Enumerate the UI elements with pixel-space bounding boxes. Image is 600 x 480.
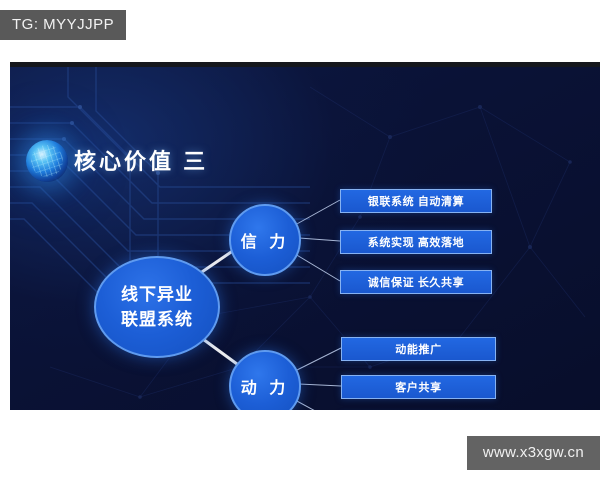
branch-node-trust[interactable]: 信 力 [229, 204, 301, 276]
connector-power-item-0 [295, 348, 341, 371]
connector-power-item-1 [299, 384, 341, 386]
connector-trust-item-0 [295, 200, 340, 225]
item-box-trust-0[interactable]: 银联系统 自动清算 [340, 189, 492, 213]
connector-trust-item-1 [299, 238, 340, 241]
connector-trust-item-2 [295, 254, 340, 281]
center-node[interactable]: 线下异业 联盟系统 [94, 256, 220, 358]
center-node-line2: 联盟系统 [121, 307, 193, 332]
slide-canvas: 核心价值 三 线下异业 联盟系统 信 力 动 力 银联系统 自动清算 系统实现 … [10, 62, 600, 410]
connector-lines [10, 62, 600, 410]
center-node-line1: 线下异业 [121, 282, 193, 307]
glowing-sphere-icon [26, 140, 68, 182]
item-box-trust-2[interactable]: 诚信保证 长久共享 [340, 270, 492, 294]
item-box-power-1[interactable]: 客户共享 [341, 375, 496, 399]
item-box-power-0[interactable]: 动能推广 [341, 337, 496, 361]
site-watermark: www.x3xgw.cn [467, 436, 600, 470]
slide-title: 核心价值 三 [74, 144, 208, 176]
connector-power-item-2 [295, 400, 341, 410]
item-box-trust-1[interactable]: 系统实现 高效落地 [340, 230, 492, 254]
tg-tag: TG: MYYJJPP [0, 10, 126, 40]
